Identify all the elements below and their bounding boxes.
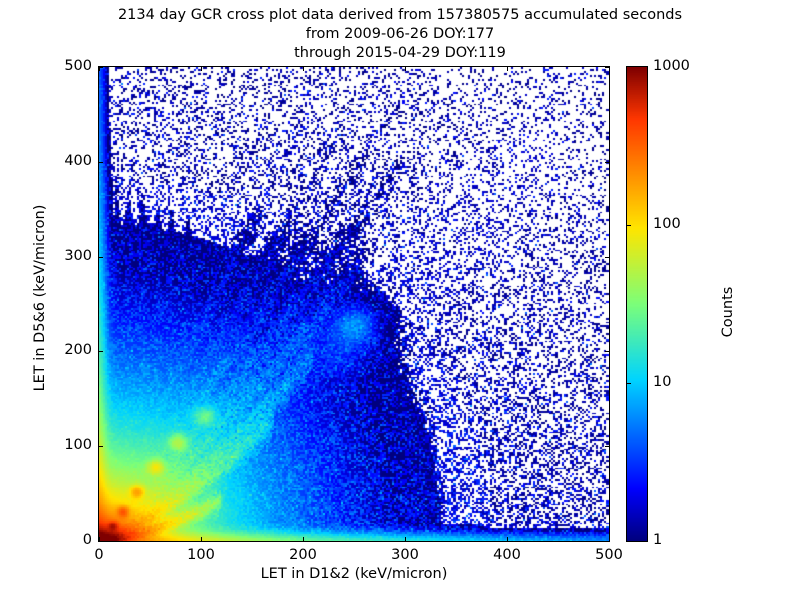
y-axis-tick: [99, 541, 103, 542]
y-axis-ticklabel: 0: [18, 532, 92, 548]
colorbar-tick: [627, 383, 631, 384]
y-axis-ticklabel: 100: [18, 437, 92, 453]
y-axis-tick: [99, 67, 103, 68]
x-axis-tick: [303, 537, 304, 541]
colorbar-ticklabel: 1000: [653, 58, 690, 74]
colorbar-ticklabel: 100: [653, 216, 681, 232]
x-axis-tick-top: [609, 67, 610, 71]
title-line-1: 2134 day GCR cross plot data derived fro…: [0, 6, 800, 25]
plot-title: 2134 day GCR cross plot data derived fro…: [0, 6, 800, 63]
figure-canvas: 2134 day GCR cross plot data derived fro…: [0, 0, 800, 600]
y-axis-tick-right: [605, 541, 609, 542]
x-axis-tick-top: [507, 67, 508, 71]
x-axis-label: LET in D1&2 (keV/micron): [98, 566, 610, 582]
y-axis-tick: [99, 162, 103, 163]
x-axis-tick: [609, 537, 610, 541]
main-plot-axes: [98, 66, 610, 542]
y-axis-ticklabel: 300: [18, 248, 92, 264]
y-axis-label: LET in D5&6 (keV/micron): [32, 148, 48, 448]
y-axis-tick: [99, 257, 103, 258]
y-axis-tick: [99, 351, 103, 352]
x-axis-ticklabel: 200: [263, 547, 343, 563]
colorbar: [626, 66, 648, 542]
x-axis-ticklabel: 300: [365, 547, 445, 563]
colorbar-label: Counts: [720, 212, 736, 412]
y-axis-tick-right: [605, 446, 609, 447]
y-axis-tick-right: [605, 67, 609, 68]
x-axis-tick: [201, 537, 202, 541]
x-axis-tick: [405, 537, 406, 541]
x-axis-ticklabel: 500: [569, 547, 649, 563]
y-axis-tick: [99, 446, 103, 447]
x-axis-tick-top: [201, 67, 202, 71]
x-axis-ticklabel: 0: [59, 547, 139, 563]
x-axis-tick: [507, 537, 508, 541]
y-axis-tick-right: [605, 351, 609, 352]
density-heatmap: [99, 67, 609, 541]
x-axis-ticklabel: 100: [161, 547, 241, 563]
x-axis-tick-top: [303, 67, 304, 71]
y-axis-ticklabel: 200: [18, 342, 92, 358]
y-axis-tick-right: [605, 162, 609, 163]
y-axis-ticklabel: 400: [18, 153, 92, 169]
colorbar-tick: [627, 225, 631, 226]
x-axis-ticklabel: 400: [467, 547, 547, 563]
colorbar-ticklabel: 1: [653, 532, 662, 548]
title-line-2: from 2009-06-26 DOY:177: [0, 25, 800, 44]
colorbar-gradient: [627, 67, 647, 541]
colorbar-ticklabel: 10: [653, 374, 671, 390]
y-axis-tick-right: [605, 257, 609, 258]
y-axis-ticklabel: 500: [18, 58, 92, 74]
x-axis-tick-top: [405, 67, 406, 71]
